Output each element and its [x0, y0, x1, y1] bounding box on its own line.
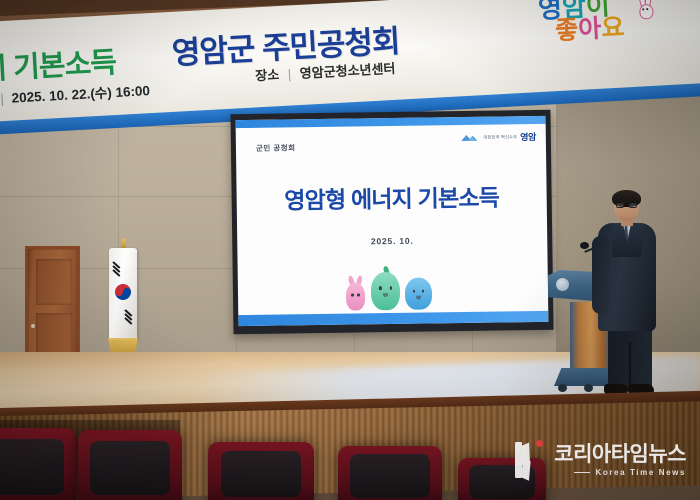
banner-place-label: 장소 — [255, 67, 280, 83]
slide-date: 2025. 10. — [237, 234, 547, 248]
audience-seat — [338, 446, 442, 500]
eyeglasses-icon — [616, 203, 637, 208]
slide-kicker: 군민 공청회 — [256, 142, 296, 154]
slide-title: 영암형 에너지 기본소득 — [236, 178, 546, 216]
green-mascot-icon — [371, 272, 401, 310]
k-logo-icon — [513, 440, 547, 480]
rabbit-mascot-icon — [637, 0, 654, 19]
banner-place-separator: | — [287, 66, 291, 81]
wooden-door — [25, 246, 80, 368]
watermark-name-en: Korea Time News — [574, 469, 686, 477]
banner-date-separator: | — [0, 91, 4, 106]
podium-emblem-icon — [556, 278, 569, 291]
banner-date-value: 2025. 10. 22.(수) 16:00 — [11, 83, 150, 105]
mountain-icon — [460, 133, 480, 142]
slide-logo-name: 영암 — [520, 130, 536, 143]
news-watermark: 코리아타임뉴스 Korea Time News — [513, 440, 686, 480]
photo-scene: 지 기본소득 영암군 주민공청회 장소 | 영암군청소년센터 시 | 2025.… — [0, 0, 700, 500]
pink-mascot-icon — [346, 282, 365, 310]
brand-logo-line2: 좋아요 — [555, 15, 625, 44]
slide-logo-tagline: 대한민국 혁신수도 — [483, 134, 517, 140]
audience-seat — [78, 430, 182, 500]
taeguk-icon — [115, 284, 131, 300]
audience-seat — [0, 428, 76, 500]
audience-seat — [208, 442, 314, 500]
door-knob-icon — [31, 324, 35, 328]
slide-top-bar — [236, 116, 546, 128]
blue-mascot-icon — [405, 277, 432, 309]
banner-place-value: 영암군청소년센터 — [299, 61, 395, 81]
slide-mascots — [238, 264, 549, 312]
speaker-person — [588, 192, 666, 398]
slide-logo: 대한민국 혁신수도 영암 — [460, 130, 536, 144]
watermark-name-ko: 코리아타임뉴스 — [554, 444, 686, 465]
projection-screen-frame: 대한민국 혁신수도 영암 군민 공청회 영암형 에너지 기본소득 2025. 1… — [230, 110, 553, 334]
slide-bottom-bar — [238, 311, 548, 326]
presentation-slide: 대한민국 혁신수도 영암 군민 공청회 영암형 에너지 기본소득 2025. 1… — [236, 116, 549, 326]
yeongam-brand-logo: 영암이 좋아요 — [531, 0, 685, 62]
